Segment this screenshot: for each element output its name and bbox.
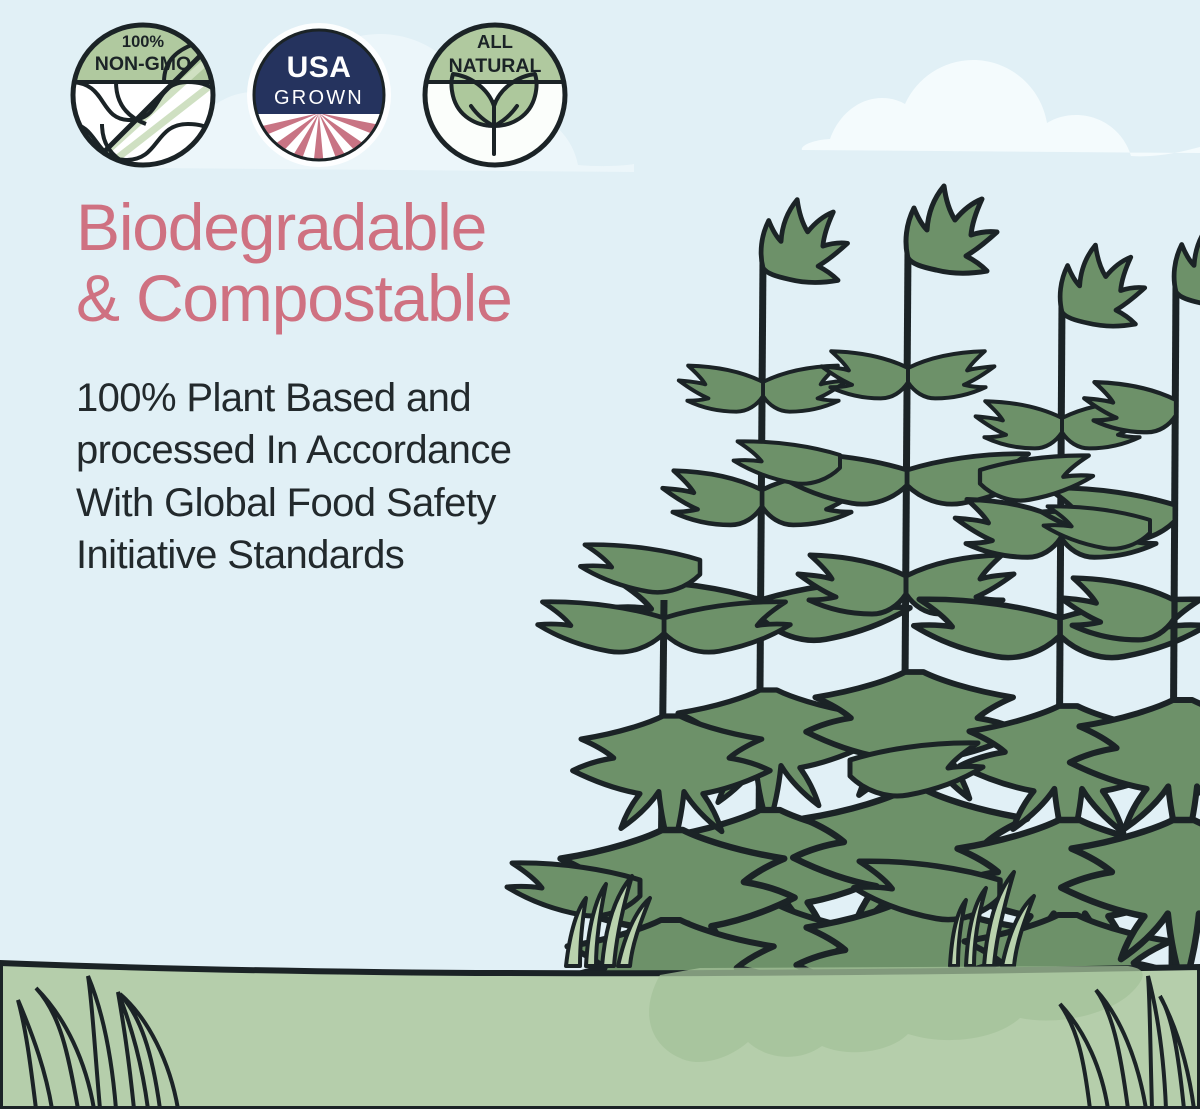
certification-badge-row: 100% NON-GMO — [68, 20, 570, 170]
page-title: Biodegradable & Compostable — [76, 192, 512, 335]
page-subcopy: 100% Plant Based and processed In Accord… — [76, 372, 686, 582]
badge-non-gmo[interactable]: 100% NON-GMO — [68, 20, 218, 170]
badge-all-natural-line1: ALL — [477, 31, 513, 52]
badge-usa-grown-graphic: USA GROWN — [244, 20, 394, 170]
badge-usa-grown-line2: GROWN — [274, 87, 364, 109]
badge-non-gmo-graphic: 100% NON-GMO — [68, 20, 218, 170]
badge-non-gmo-line1: 100% — [122, 33, 165, 51]
badge-usa-grown-line1: USA — [287, 51, 352, 84]
badge-all-natural[interactable]: ALL NATURAL — [420, 20, 570, 170]
badge-non-gmo-line2: NON-GMO — [95, 53, 191, 75]
poster-canvas: 100% NON-GMO — [0, 0, 1200, 1109]
badge-usa-grown[interactable]: USA GROWN — [244, 20, 394, 170]
badge-all-natural-line2: NATURAL — [449, 55, 542, 77]
badge-all-natural-graphic: ALL NATURAL — [420, 20, 570, 170]
